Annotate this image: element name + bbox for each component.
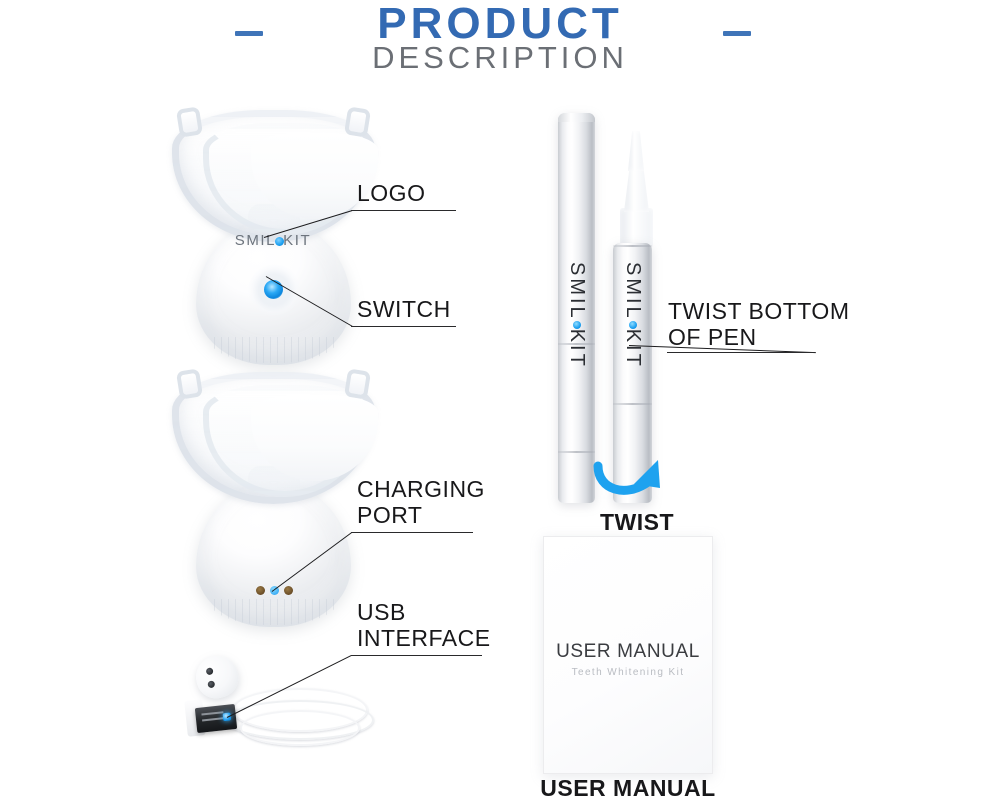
magnetic-charging-head	[191, 651, 243, 703]
pen-seam-lower	[558, 451, 595, 453]
charging-pin-left-icon	[256, 586, 265, 595]
twist-arrow-icon	[592, 448, 672, 504]
pen-brush-bristle-tip-icon	[628, 131, 644, 171]
callout-switch: SWITCH	[357, 296, 451, 322]
page-subtitle: DESCRIPTION	[0, 42, 1000, 73]
usb-interface-plug-icon	[195, 704, 237, 733]
pen-brand-dot-icon	[629, 321, 637, 329]
charging-pin-right-icon	[284, 586, 293, 595]
user-manual-booklet: USER MANUAL Teeth Whitening Kit	[543, 536, 713, 774]
underline-charging-port	[351, 532, 473, 533]
usb-pin-1	[201, 711, 223, 715]
booklet-subtitle: Teeth Whitening Kit	[544, 667, 712, 678]
underline-twist-pen	[667, 352, 815, 353]
tray-u-inner	[203, 123, 366, 235]
tray-u-inner	[203, 385, 366, 497]
tray-clip-right	[344, 106, 371, 137]
underline-switch	[351, 326, 456, 327]
callout-logo: LOGO	[357, 180, 425, 206]
mag-pin-1	[205, 667, 214, 676]
pen-brand-first: SMIL	[566, 262, 588, 321]
pen-open-seam-top	[613, 245, 652, 247]
cable-loop-3	[240, 710, 360, 746]
pen-brand-second: KIT	[566, 329, 588, 369]
callout-twist-pen: TWIST BOTTOM OF PEN	[668, 298, 849, 351]
callout-usb-interface: USB INTERFACE	[357, 599, 491, 652]
pen-brand-label-left: SMILKIT	[567, 262, 587, 369]
pen-brand-second: KIT	[622, 329, 644, 369]
brand-text-second: KIT	[283, 232, 311, 249]
pen-brush-collar	[620, 208, 653, 248]
product-description-infographic: PRODUCT DESCRIPTION SMILKIT LOGO SWITCH	[0, 0, 1000, 800]
underline-logo	[351, 210, 456, 211]
pen-brand-dot-icon	[573, 321, 581, 329]
pen-brand-label-right: SMILKIT	[623, 262, 643, 369]
underline-usb-interface	[351, 655, 482, 656]
tray-clip-left	[176, 368, 203, 399]
pen-brand-first: SMIL	[622, 262, 644, 321]
power-switch-led-icon[interactable]	[264, 280, 283, 299]
usb-pin-2	[202, 717, 224, 721]
mag-pin-2	[207, 680, 216, 689]
pen-cap-top	[558, 113, 595, 122]
booklet-title: USER MANUAL	[544, 641, 712, 663]
tray-clip-right	[344, 368, 371, 399]
caption-twist: TWIST	[567, 509, 707, 536]
pen-brush-cone	[624, 168, 649, 212]
tray-clip-left	[176, 106, 203, 137]
callout-charging-port: CHARGING PORT	[357, 476, 485, 529]
tray-mouth-piece	[251, 395, 378, 481]
pen-open-seam-mid	[613, 403, 652, 405]
caption-user-manual: USER MANUAL	[528, 775, 728, 802]
